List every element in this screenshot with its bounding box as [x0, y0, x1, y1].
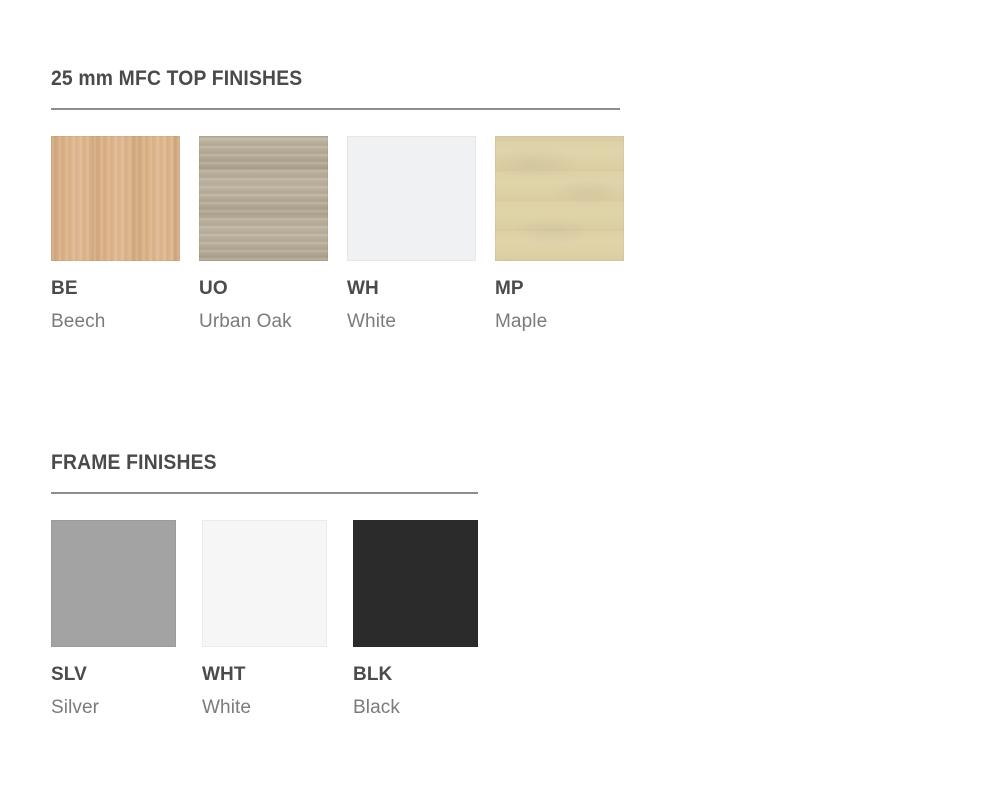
swatch-name-slv: Silver	[51, 698, 176, 717]
swatch-grid-frame-finishes: SLV Silver WHT White BLK Black	[51, 520, 478, 717]
swatch-item-wht[interactable]: WHT White	[202, 520, 327, 717]
swatch-code-wht: WHT	[202, 665, 327, 684]
section-divider-mfc-top-finishes	[51, 108, 620, 110]
swatch-color-slv[interactable]	[51, 520, 176, 647]
swatch-name-uo: Urban Oak	[199, 312, 328, 331]
swatch-name-wh: White	[347, 312, 476, 331]
swatch-name-blk: Black	[353, 698, 478, 717]
swatch-name-wht: White	[202, 698, 327, 717]
swatch-color-uo[interactable]	[199, 136, 328, 261]
section-divider-frame-finishes	[51, 492, 478, 494]
swatch-item-slv[interactable]: SLV Silver	[51, 520, 176, 717]
finishes-page: 25 mm MFC TOP FINISHES BE Beech UO Urban…	[0, 0, 1000, 800]
swatch-item-be[interactable]: BE Beech	[51, 136, 180, 331]
section-title-mfc-top-finishes: 25 mm MFC TOP FINISHES	[51, 68, 578, 89]
swatch-color-be[interactable]	[51, 136, 180, 261]
swatch-code-uo: UO	[199, 279, 328, 298]
swatch-item-wh[interactable]: WH White	[347, 136, 476, 331]
swatch-code-be: BE	[51, 279, 180, 298]
swatch-code-wh: WH	[347, 279, 476, 298]
swatch-color-mp[interactable]	[495, 136, 624, 261]
swatch-item-mp[interactable]: MP Maple	[495, 136, 624, 331]
swatch-color-wht[interactable]	[202, 520, 327, 647]
swatch-code-slv: SLV	[51, 665, 176, 684]
section-mfc-top-finishes: 25 mm MFC TOP FINISHES BE Beech UO Urban…	[51, 68, 624, 331]
swatch-code-blk: BLK	[353, 665, 478, 684]
swatch-grid-mfc-top-finishes: BE Beech UO Urban Oak WH White MP Maple	[51, 136, 624, 331]
swatch-color-wh[interactable]	[347, 136, 476, 261]
swatch-code-mp: MP	[495, 279, 624, 298]
section-frame-finishes: FRAME FINISHES SLV Silver WHT White BLK …	[51, 452, 478, 717]
swatch-color-blk[interactable]	[353, 520, 478, 647]
swatch-item-uo[interactable]: UO Urban Oak	[199, 136, 328, 331]
swatch-item-blk[interactable]: BLK Black	[353, 520, 478, 717]
swatch-name-mp: Maple	[495, 312, 624, 331]
swatch-name-be: Beech	[51, 312, 180, 331]
section-title-frame-finishes: FRAME FINISHES	[51, 452, 444, 473]
